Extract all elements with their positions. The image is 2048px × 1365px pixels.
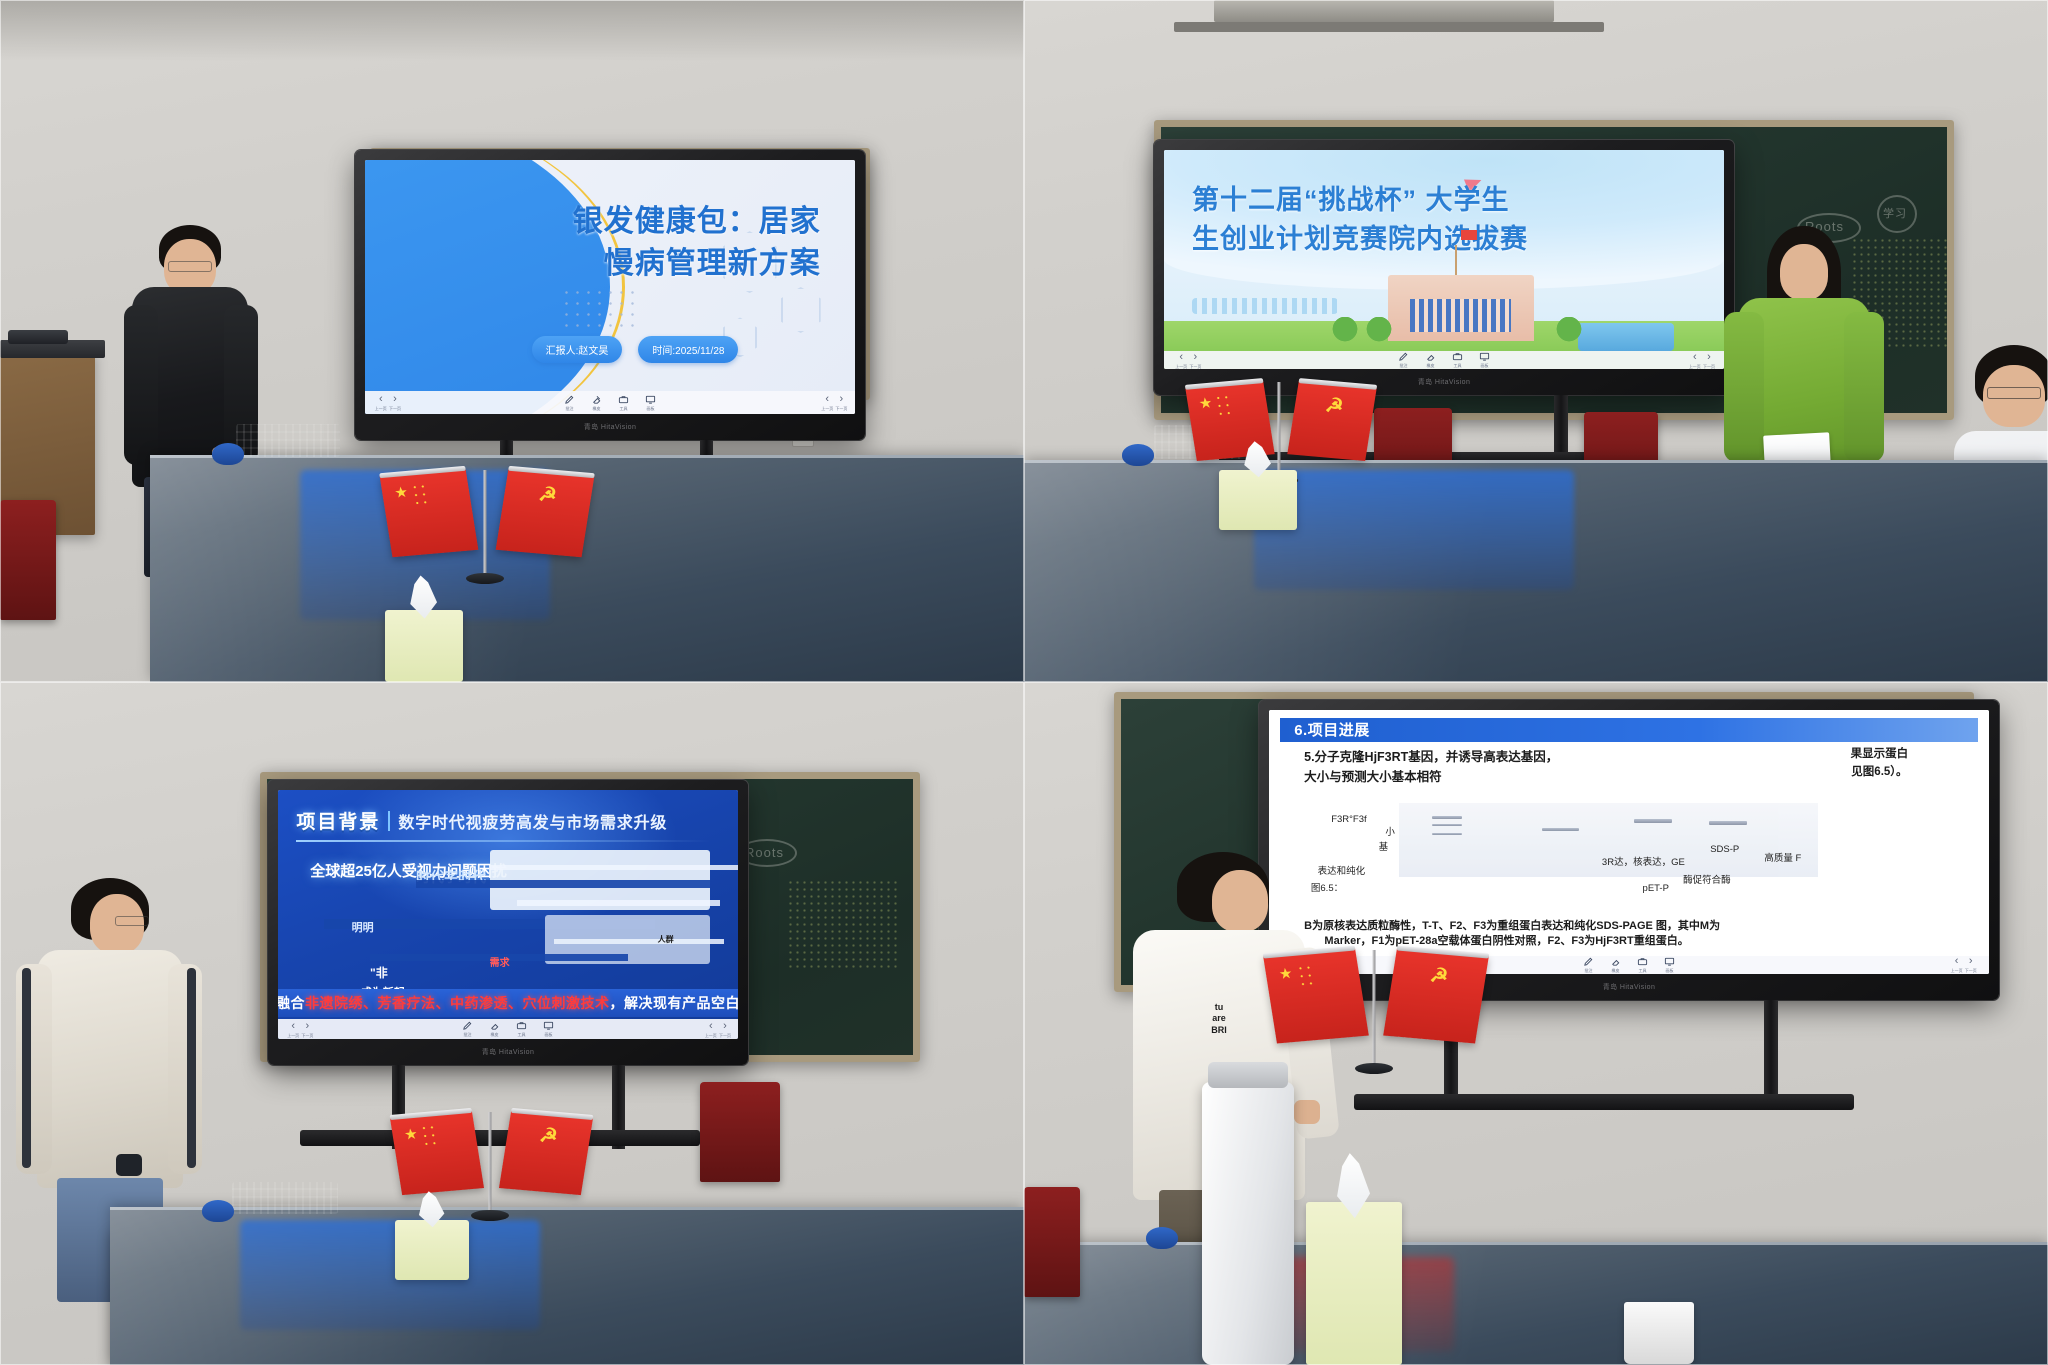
gel-band (1432, 816, 1461, 818)
gel-band (1432, 824, 1461, 826)
slide-project-background: 项目背景 数字时代视疲劳高发与市场需求升级 全球超25亿人受视力问题困扰 时代字… (278, 790, 738, 1039)
display-settings-button[interactable]: 画板 (543, 1020, 554, 1038)
slide-header-text: 6.项目进展 (1294, 719, 1370, 740)
screen-toolbar[interactable]: ‹ 上一页 › 下一页 批注 (1164, 351, 1724, 369)
prev-page-button[interactable]: ‹ 上一页 (375, 393, 387, 412)
pen-icon (462, 1020, 473, 1031)
paper-cup (1624, 1302, 1694, 1364)
party-flag: ☭ (1383, 949, 1489, 1044)
chevron-left-icon: ‹ (291, 1020, 295, 1032)
prev-page-button[interactable]: ‹ 上一页 (1175, 351, 1187, 369)
slide-body: 5.分子克隆HjF3RT基因，并诱导高表达基因， 大小与预测大小基本相符 果显示… (1291, 747, 1968, 964)
pen-tool-button[interactable]: 批注 (462, 1020, 473, 1038)
eraser-icon (1610, 956, 1621, 967)
display-icon (1664, 956, 1675, 967)
slide-meta-pills: 汇报人:赵文昊 时间:2025/11/28 (532, 336, 739, 363)
display-settings-button[interactable]: 画板 (1664, 956, 1675, 974)
hexagon-icon (781, 287, 821, 333)
gel-band (1634, 819, 1672, 823)
slide-footer-banner: 融合非遗院绣、芳香疗法、中药渗透、穴位刺激技术，解决现有产品空白 (278, 989, 738, 1016)
glasses-icon (115, 916, 149, 926)
keyboard[interactable] (236, 424, 340, 457)
small-stars-icon (420, 1124, 439, 1147)
slide-line-1a: 5.分子克隆HjF3RT基因，并诱导高表达基因， (1304, 747, 1791, 767)
star-icon: ★ (1197, 396, 1213, 412)
chevron-left-icon: ‹ (1955, 955, 1959, 967)
prev-page-button-right[interactable]: ‹ 上一页 (1951, 955, 1963, 974)
slide-footer-text: 融合非遗院绣、芳香疗法、中药渗透、穴位刺激技术，解决现有产品空白 (278, 993, 738, 1013)
national-flag: ★ (380, 469, 479, 558)
chevron-left-icon: ‹ (1179, 351, 1183, 363)
note-line-2: 见图6.5）。 (1791, 763, 1967, 781)
star-icon: ★ (404, 1127, 420, 1143)
display-screen[interactable]: 银发健康包：居家 慢病管理新方案 汇报人:赵文昊 时间:2025/11/28 ‹… (365, 160, 855, 414)
slide-fragment: 基 (1379, 840, 1389, 855)
desk-flags: ★ ☭ (390, 470, 580, 580)
building-flagpole-icon (1455, 245, 1457, 275)
slide-fragment: 3R达，核表达，GE (1602, 855, 1685, 870)
building-windows-icon (1410, 299, 1511, 332)
toolbox-icon (618, 394, 629, 405)
eraser-tool-button[interactable]: 橡皮 (1610, 956, 1621, 974)
small-stars-icon (411, 482, 430, 505)
ceiling-rail (1214, 0, 1554, 22)
divider (388, 811, 390, 831)
display-stand-foot (1354, 1094, 1854, 1110)
footer-highlight: 非遗院绣、芳香疗法、中药渗透、穴位刺激技术 (305, 995, 610, 1011)
hammer-sickle-icon: ☭ (537, 485, 558, 506)
header-rule (296, 840, 710, 842)
star-icon: ★ (394, 486, 410, 502)
chevron-left-icon: ‹ (1693, 351, 1697, 363)
prev-page-button-right[interactable]: ‹ 上一页 (705, 1020, 717, 1039)
table-reflection (1024, 1242, 2048, 1365)
flag-pole (1373, 950, 1376, 1070)
slide-body-line-b: Marker，F1为pET-28a空载体蛋白阴性对照，F2、F3为HjF3RT重… (1324, 933, 1688, 951)
tree-icon (1556, 317, 1582, 347)
toolbox-button[interactable]: 工具 (1637, 956, 1648, 974)
glitch-band (517, 900, 719, 906)
tissue-box (395, 1220, 469, 1280)
display-brand: 青岛 HitaVision (355, 414, 865, 440)
next-page-button-right[interactable]: › 下一页 (719, 1020, 731, 1039)
torso-track-jacket (37, 950, 183, 1188)
party-flag: ☭ (1287, 381, 1376, 461)
pen-tool-button[interactable]: 批注 (1398, 351, 1409, 369)
national-flag: ★ (1263, 949, 1369, 1044)
flag-pole (489, 1112, 492, 1217)
hammer-sickle-icon: ☭ (538, 1126, 559, 1147)
sweater-lettering: tu are BRI (1159, 1002, 1279, 1036)
chair (1024, 1187, 1080, 1297)
slide-title: 第十二届“挑战杯” 大学生 生创业计划竞赛院内选拔赛 (1192, 181, 1606, 260)
wave-decoration-icon (1192, 298, 1338, 314)
next-page-button[interactable]: › 下一页 (301, 1020, 313, 1039)
thermos-lid (1208, 1062, 1289, 1087)
toolbox-icon (1452, 351, 1463, 362)
smart-display[interactable]: 第十二届“挑战杯” 大学生 生创业计划竞赛院内选拔赛 (1154, 140, 1734, 395)
footer-part-2: ，解决现有产品空白 (610, 995, 739, 1011)
next-page-button[interactable]: › 下一页 (1189, 351, 1201, 369)
small-stars-icon (1296, 963, 1315, 986)
pen-tool-button[interactable]: 批注 (1583, 956, 1594, 974)
tissue-box (1306, 1202, 1402, 1365)
gel-band (1542, 828, 1580, 831)
pen-icon (1583, 956, 1594, 967)
glitch-text: 人群 (658, 934, 674, 945)
toolbar-tools[interactable]: 批注 橡皮 工具 画板 (1583, 956, 1675, 974)
date-pill: 时间:2025/11/28 (638, 336, 738, 363)
toolbar-nav-right[interactable]: ‹ 上一页 › 下一页 (821, 393, 845, 412)
photo-collage-grid: Roots 机构 银发健康包：居家 慢病管理新方案 (0, 0, 2048, 1365)
gel-band (1709, 821, 1747, 825)
tree-icon (1366, 317, 1392, 347)
slide-project-progress: 6.项目进展 5.分子克隆HjF3RT基因，并诱导高表达基因， 大小与预测大小基… (1269, 710, 1989, 974)
display-settings-button[interactable]: 画板 (1479, 351, 1490, 369)
tree-icon (1332, 317, 1358, 347)
gel-band (1432, 833, 1461, 835)
eraser-tool-button[interactable]: 橡皮 (1425, 351, 1436, 369)
pen-icon (564, 394, 575, 405)
slide-title-line1: 银发健康包：居家 (527, 201, 821, 244)
toolbox-button[interactable]: 工具 (516, 1020, 527, 1038)
dot-pattern-icon (561, 287, 641, 333)
desk-flags: ★ ☭ (1194, 382, 1364, 482)
slide-header: 项目背景 数字时代视疲劳高发与市场需求升级 (296, 807, 667, 834)
chevron-left-icon: ‹ (825, 393, 829, 405)
building-flag-icon (1461, 230, 1477, 240)
slide-fragment: 高质量 F (1764, 851, 1801, 866)
left-arm (1724, 312, 1764, 462)
slide-fragment: pET-P (1643, 881, 1669, 896)
toolbox-icon (1637, 956, 1648, 967)
chevron-right-icon: › (1969, 955, 1973, 967)
chevron-left-icon: ‹ (379, 393, 383, 405)
display-brand: 青岛 HitaVision (268, 1039, 748, 1065)
screen-reflection (1254, 470, 1574, 590)
wall-shadow (0, 0, 1024, 61)
sweater-line-3: BRI (1159, 1025, 1279, 1036)
eraser-icon (1425, 351, 1436, 362)
hammer-sickle-icon: ☭ (1324, 395, 1345, 416)
desk-flags: ★ ☭ (1274, 950, 1474, 1070)
star-icon: ★ (1278, 967, 1294, 983)
glitch-text: "非 (370, 964, 388, 981)
tissue-box (1219, 470, 1297, 530)
sweater-line-2: are (1159, 1013, 1279, 1024)
screen-toolbar[interactable]: ‹ 上一页 › 下一页 批注 (365, 391, 855, 414)
eraser-tool-button[interactable]: 橡皮 (591, 394, 602, 412)
note-line-1: 果显示蛋白 (1791, 745, 1967, 763)
head (1780, 244, 1828, 300)
chair (700, 1082, 780, 1182)
slide-fragment: 酶促符合酶 (1683, 873, 1731, 888)
flag-base (1355, 1063, 1393, 1074)
prev-page-button-right[interactable]: ‹ 上一页 (1689, 351, 1701, 369)
keyboard[interactable] (232, 1182, 338, 1214)
glitch-text: 明明 (352, 919, 374, 935)
head (1212, 870, 1268, 932)
glitch-band (416, 880, 710, 888)
pen-tool-button[interactable]: 批注 (564, 394, 575, 412)
panel-top-left: Roots 机构 银发健康包：居家 慢病管理新方案 (0, 0, 1024, 682)
national-flag: ★ (390, 1111, 484, 1195)
slide-title-challenge-cup: 第十二届“挑战杯” 大学生 生创业计划竞赛院内选拔赛 (1164, 150, 1724, 369)
glasses-icon (168, 261, 212, 272)
mouse[interactable] (202, 1200, 234, 1222)
chevron-right-icon: › (840, 393, 844, 405)
slide-section-tag: 项目背景 (296, 807, 380, 834)
next-page-button-right[interactable]: › 下一页 (835, 393, 847, 412)
mouse[interactable] (1122, 444, 1154, 466)
slide-fragment: SDS-P (1710, 842, 1739, 857)
display-icon (1479, 351, 1490, 362)
display-icon (543, 1020, 554, 1031)
toolbar-nav-right[interactable]: ‹ 上一页 › 下一页 (705, 1020, 729, 1039)
chevron-right-icon: › (1707, 351, 1711, 363)
slide-fragment: 小 (1385, 825, 1395, 840)
flag-base (471, 1210, 509, 1221)
slide-title-silver-health: 银发健康包：居家 慢病管理新方案 汇报人:赵文昊 时间:2025/11/28 ‹… (365, 160, 855, 414)
hand (1294, 1100, 1320, 1124)
toolbar-nav-left[interactable]: ‹ 上一页 › 下一页 (375, 393, 399, 412)
right-arm (1844, 312, 1884, 462)
ceiling-rail-lower (1174, 22, 1604, 32)
pen-icon (1398, 351, 1409, 362)
held-device (116, 1154, 142, 1176)
chevron-right-icon: › (306, 1020, 310, 1032)
prev-page-button-right[interactable]: ‹ 上一页 (821, 393, 833, 412)
slide-title-line1: 第十二届“挑战杯” 大学生 (1192, 181, 1606, 220)
flag-pole (484, 470, 487, 580)
conference-table (1024, 1242, 2048, 1365)
slide-title-line2: 慢病管理新方案 (527, 243, 821, 286)
panel-bottom-right: Roots cnlu 6.项目进展 5.分子克隆HjF3RT基因，并诱导高表达基… (1024, 682, 2048, 1365)
glitch-band (490, 865, 738, 870)
right-arm (168, 964, 202, 1174)
next-page-button[interactable]: › 下一页 (389, 393, 401, 412)
chevron-right-icon: › (723, 1020, 727, 1032)
slide-line-1: 5.分子克隆HjF3RT基因，并诱导高表达基因， 大小与预测大小基本相符 (1304, 747, 1791, 787)
sweater-line-1: tu (1159, 1002, 1279, 1013)
mouse[interactable] (1146, 1227, 1178, 1249)
smart-display[interactable]: 项目背景 数字时代视疲劳高发与市场需求升级 全球超25亿人受视力问题困扰 时代字… (268, 780, 748, 1065)
chevron-right-icon: › (393, 393, 397, 405)
chair (0, 500, 56, 620)
toolbox-icon (516, 1020, 527, 1031)
display-settings-button[interactable]: 画板 (645, 394, 656, 412)
slide-line-1b: 大小与预测大小基本相符 (1304, 767, 1791, 787)
chalk-dots-icon (787, 879, 897, 969)
eraser-tool-button[interactable]: 橡皮 (489, 1020, 500, 1038)
toolbar-nav-left[interactable]: ‹ 上一页 › 下一页 (1175, 351, 1199, 369)
slide-heading: 数字时代视疲劳高发与市场需求升级 (398, 809, 667, 833)
next-page-button-right[interactable]: › 下一页 (1965, 955, 1977, 974)
glitch-red-text: 需求 (490, 954, 510, 969)
slide-title: 银发健康包：居家 慢病管理新方案 (527, 201, 821, 286)
slide-right-note: 果显示蛋白 见图6.5）。 (1791, 745, 1967, 782)
party-flag: ☭ (499, 1111, 593, 1195)
jacket-stripe (187, 968, 196, 1168)
microphone-base (8, 330, 68, 344)
toolbar-nav-right[interactable]: ‹ 上一页 › 下一页 (1951, 955, 1975, 974)
toolbar-tools[interactable]: 批注 橡皮 工具 画板 (462, 1020, 554, 1038)
chevron-left-icon: ‹ (709, 1020, 713, 1032)
prev-page-button[interactable]: ‹ 上一页 (287, 1020, 299, 1039)
display-icon (645, 394, 656, 405)
small-stars-icon (1213, 393, 1232, 416)
display-screen[interactable]: 6.项目进展 5.分子克隆HjF3RT基因，并诱导高表达基因， 大小与预测大小基… (1269, 710, 1989, 974)
display-screen[interactable]: 项目背景 数字时代视疲劳高发与市场需求升级 全球超25亿人受视力问题困扰 时代字… (278, 790, 738, 1039)
thermos-flask (1202, 1082, 1294, 1365)
smart-display[interactable]: 银发健康包：居家 慢病管理新方案 汇报人:赵文昊 时间:2025/11/28 ‹… (355, 150, 865, 440)
chevron-right-icon: › (1194, 351, 1198, 363)
slide-title-line2: 生创业计划竞赛院内选拔赛 (1192, 220, 1606, 259)
toolbar-nav-left[interactable]: ‹ 上一页 › 下一页 (287, 1020, 311, 1039)
screen-toolbar[interactable]: ‹ 上一页 › 下一页 批注 (278, 1019, 738, 1039)
screen-reflection (240, 1220, 540, 1330)
footer-part-1: 融合 (278, 995, 305, 1011)
display-screen[interactable]: 第十二届“挑战杯” 大学生 生创业计划竞赛院内选拔赛 (1164, 150, 1724, 369)
toolbox-button[interactable]: 工具 (1452, 351, 1463, 369)
slide-fragment: F3R°F3f (1331, 812, 1366, 827)
left-arm (124, 305, 158, 465)
eraser-icon (489, 1020, 500, 1031)
toolbar-tools[interactable]: 批注 橡皮 工具 画板 (1398, 351, 1490, 369)
hammer-sickle-icon: ☭ (1429, 966, 1450, 987)
eraser-icon (591, 394, 602, 405)
glasses-icon (1987, 387, 2041, 399)
flag-base (466, 573, 504, 584)
bus-icon (1578, 323, 1673, 351)
slide-header-bar: 6.项目进展 (1280, 718, 1978, 742)
flag-pole (1278, 382, 1281, 482)
mouse[interactable] (212, 443, 244, 465)
toolbar-nav-right[interactable]: ‹ 上一页 › 下一页 (1689, 351, 1713, 369)
tissue-box (385, 610, 463, 682)
jacket-stripe (22, 968, 31, 1168)
toolbar-tools[interactable]: 批注 橡皮 工具 画板 (564, 394, 656, 412)
toolbox-button[interactable]: 工具 (618, 394, 629, 412)
slide-fragment: 表达和纯化 (1318, 864, 1366, 879)
panel-bottom-left: Roots 项目背景 数字时代视疲劳高发与市场需求升级 全球超25亿人受视力问题… (0, 682, 1024, 1365)
presenter-pill: 汇报人:赵文昊 (532, 336, 623, 363)
next-page-button-right[interactable]: › 下一页 (1703, 351, 1715, 369)
panel-top-right: Roots 学习 第十二届“挑战杯” 大学生 生创业计划竞赛院内选拔赛 (1024, 0, 2048, 682)
party-flag: ☭ (495, 469, 594, 558)
